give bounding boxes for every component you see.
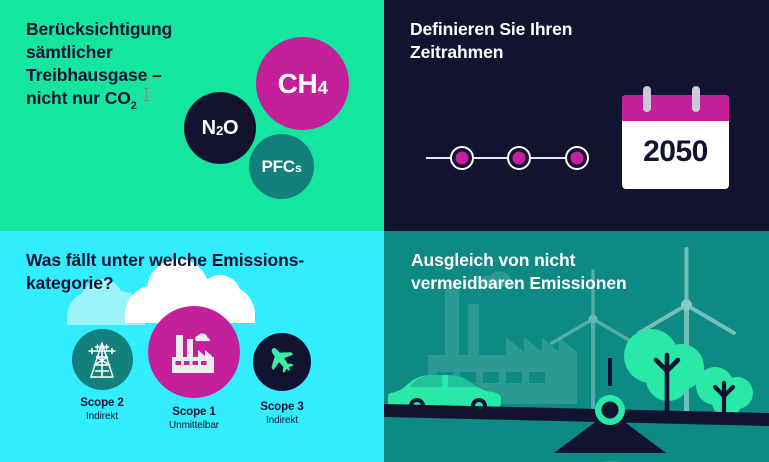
timeline-dot-2-core bbox=[513, 152, 526, 165]
timeline-dot-1 bbox=[450, 146, 474, 170]
calendar-header bbox=[622, 95, 729, 121]
calendar-year-label: 2050 bbox=[622, 121, 729, 189]
scope-3-desc: Indirekt bbox=[242, 415, 322, 426]
timeline-dot-3-core bbox=[571, 152, 584, 165]
offset-title: Ausgleich von nicht vermeidbaren Emissio… bbox=[411, 249, 627, 295]
calendar-ring-left bbox=[643, 86, 651, 112]
gas-bubble-n2o-label-b: O bbox=[223, 117, 238, 140]
gas-bubble-n2o-subscript: 2 bbox=[216, 123, 223, 138]
panel-greenhouse-gases: Berücksichtigung sämtlicher Treibhausgas… bbox=[0, 0, 384, 231]
gas-bubble-ch4-label: CH bbox=[278, 68, 318, 100]
gas-bubble-pfcs-label: PFC bbox=[261, 157, 294, 177]
gas-bubble-pfcs: PFCs bbox=[249, 134, 314, 199]
gas-bubble-ch4: CH4 bbox=[256, 37, 349, 130]
scope-item-3[interactable]: Scope 3 Indirekt bbox=[242, 333, 322, 426]
gas-bubble-ch4-subscript: 4 bbox=[318, 77, 328, 99]
scale-pointer bbox=[608, 358, 612, 386]
airplane-icon bbox=[265, 345, 299, 379]
timeline-track bbox=[426, 157, 576, 159]
scope-1-disc bbox=[148, 306, 240, 398]
scope-2-desc: Indirekt bbox=[62, 411, 142, 422]
gas-bubble-n2o-label-a: N bbox=[202, 117, 216, 140]
tree-icon-large bbox=[624, 329, 704, 411]
timeline-dot-1-core bbox=[456, 152, 469, 165]
scope-3-disc bbox=[253, 333, 311, 391]
scale-pivot-inner bbox=[602, 402, 619, 419]
factory-icon bbox=[168, 327, 220, 377]
gases-title: Berücksichtigung sämtlicher Treibhausgas… bbox=[26, 18, 172, 110]
scope-1-desc: Unmittelbar bbox=[148, 420, 240, 431]
scope-item-1[interactable]: Scope 1 Unmittelbar bbox=[148, 306, 240, 431]
infographic-root: Berücksichtigung sämtlicher Treibhausgas… bbox=[0, 0, 769, 462]
scope-2-disc bbox=[72, 329, 133, 390]
scale-beam bbox=[384, 404, 769, 426]
scope-2-name: Scope 2 bbox=[62, 397, 142, 409]
timeline-dot-3 bbox=[565, 146, 589, 170]
calendar-ring-right bbox=[692, 86, 700, 112]
tree-icon-small bbox=[696, 367, 753, 417]
calendar-icon: 2050 bbox=[622, 95, 729, 189]
timeframe-title: Definieren Sie Ihren Zeitrahmen bbox=[410, 18, 572, 64]
gas-bubble-n2o: N2O bbox=[184, 92, 256, 164]
scope-1-name: Scope 1 bbox=[148, 406, 240, 418]
scope-item-2[interactable]: Scope 2 Indirekt bbox=[62, 329, 142, 422]
gas-bubble-pfcs-subscript: s bbox=[295, 161, 302, 175]
timeline-dot-2 bbox=[507, 146, 531, 170]
power-pylon-icon bbox=[85, 341, 119, 379]
gases-title-text: Berücksichtigung sämtlicher Treibhausgas… bbox=[26, 19, 172, 108]
gases-title-subscript: 2 bbox=[131, 100, 137, 112]
scope-3-name: Scope 3 bbox=[242, 401, 322, 413]
scopes-title: Was fällt unter welche Emissions- katego… bbox=[26, 249, 304, 295]
